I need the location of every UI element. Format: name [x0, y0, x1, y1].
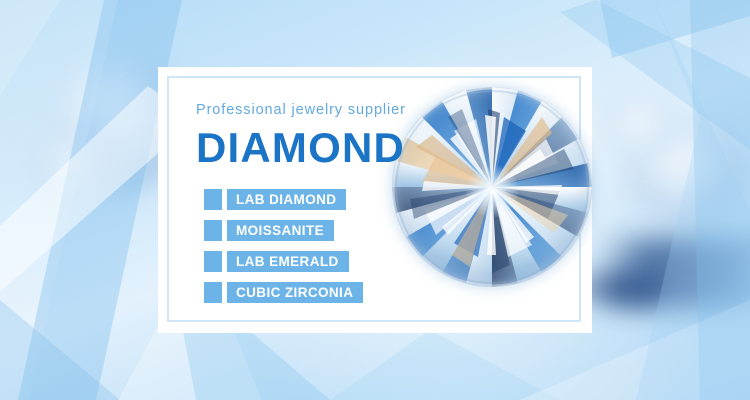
background-bokeh-right-2	[600, 88, 680, 158]
bullet-square-icon	[204, 220, 222, 241]
list-item[interactable]: MOISSANITE	[204, 220, 363, 241]
product-label: LAB EMERALD	[227, 251, 349, 272]
bullet-square-icon	[204, 282, 222, 303]
product-label: LAB DIAMOND	[227, 189, 346, 210]
product-label: CUBIC ZIRCONIA	[227, 282, 363, 303]
product-label: MOISSANITE	[227, 220, 334, 241]
list-item[interactable]: CUBIC ZIRCONIA	[204, 282, 363, 303]
list-item[interactable]: LAB EMERALD	[204, 251, 363, 272]
bullet-square-icon	[204, 251, 222, 272]
list-item[interactable]: LAB DIAMOND	[204, 189, 363, 210]
headline-block: Professional jewelry supplier DIAMOND	[196, 103, 446, 169]
background-bokeh-left-2	[30, 128, 126, 208]
page-title: DIAMOND	[196, 127, 446, 169]
product-list: LAB DIAMOND MOISSANITE LAB EMERALD CUBIC…	[204, 189, 363, 303]
tagline: Professional jewelry supplier	[196, 103, 446, 118]
bullet-square-icon	[204, 189, 222, 210]
promo-banner: Professional jewelry supplier DIAMOND LA…	[0, 0, 750, 400]
